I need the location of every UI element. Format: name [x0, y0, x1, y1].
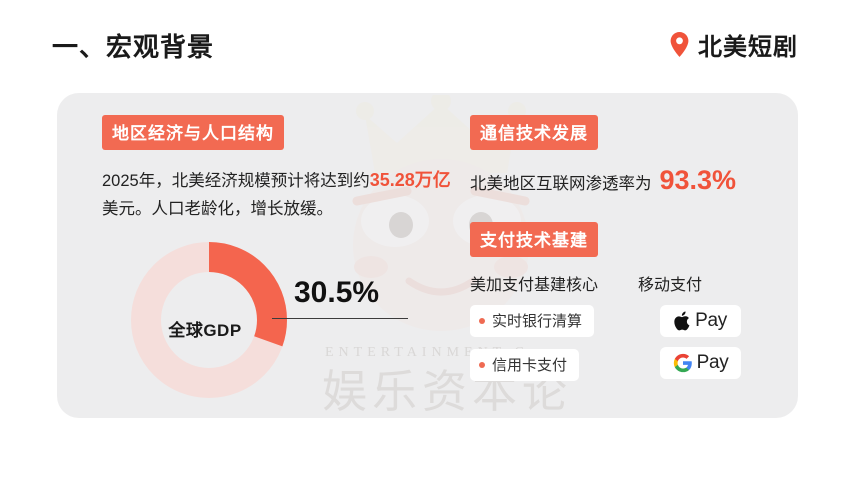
location-pin-icon: [670, 32, 689, 57]
google-pay-button[interactable]: Pay: [660, 347, 741, 379]
apple-logo-icon: [674, 311, 691, 331]
apple-pay-button[interactable]: Pay: [660, 305, 741, 337]
payment-subheadings: 美加支付基建核心 移动支付: [470, 271, 790, 295]
left-column: 地区经济与人口结构 2025年，北美经济规模预计将达到约35.28万亿美元。人口…: [102, 115, 462, 223]
internet-penetration-prefix: 北美地区互联网渗透率为: [470, 170, 652, 194]
right-column: 通信技术发展 北美地区互联网渗透率为 93.3% 支付技术基建 美加支付基建核心…: [470, 115, 790, 381]
payment-subhead-mobile: 移动支付: [638, 271, 702, 295]
slide-root: 一、宏观背景 北美短剧: [0, 0, 854, 479]
page-title: 一、宏观背景: [52, 27, 214, 64]
tag-payment-infrastructure: 支付技术基建: [470, 222, 598, 257]
mobile-wallet-list: Pay Pay: [660, 305, 760, 381]
region-label: 北美短剧: [698, 27, 798, 62]
payment-columns: 实时银行清算 信用卡支付: [470, 305, 790, 381]
list-item[interactable]: 实时银行清算: [470, 305, 594, 337]
gdp-donut-chart: 全球GDP 30.5%: [124, 235, 454, 418]
google-pay-label: Pay: [697, 352, 729, 374]
economy-paragraph: 2025年，北美经济规模预计将达到约35.28万亿美元。人口老龄化，增长放缓。: [102, 166, 454, 223]
section-spacer: [470, 196, 790, 222]
list-item-label: 实时银行清算: [492, 310, 582, 331]
google-logo-icon: [673, 353, 693, 373]
tag-communication-tech: 通信技术发展: [470, 115, 598, 150]
internet-penetration-value: 93.3%: [660, 165, 737, 196]
list-item-label: 信用卡支付: [492, 354, 567, 375]
bullet-dot-icon: [479, 318, 485, 324]
macro-background-card: ENTERTAINMENT C 娱乐资本论 地区经济与人口结构 2025年，北美…: [57, 93, 798, 418]
donut-percent-label: 30.5%: [294, 276, 379, 310]
apple-pay-label: Pay: [695, 310, 727, 332]
tag-economy-demographics: 地区经济与人口结构: [102, 115, 284, 150]
payment-pill-list: 实时银行清算 信用卡支付: [470, 305, 630, 381]
donut-center-label: 全球GDP: [124, 316, 286, 341]
paragraph-part-2: 美元。人口老龄化，增长放缓。: [102, 200, 333, 218]
region-badge: 北美短剧: [670, 27, 798, 62]
internet-penetration-stat: 北美地区互联网渗透率为 93.3%: [470, 165, 790, 196]
list-item[interactable]: 信用卡支付: [470, 349, 579, 381]
paragraph-part-1: 2025年，北美经济规模预计将达到约: [102, 172, 370, 190]
donut-leader-line: [272, 318, 408, 319]
slide-header: 一、宏观背景 北美短剧: [0, 0, 854, 92]
bullet-dot-icon: [479, 362, 485, 368]
payment-subhead-core: 美加支付基建核心: [470, 271, 598, 295]
paragraph-highlight: 35.28万亿: [370, 170, 451, 190]
